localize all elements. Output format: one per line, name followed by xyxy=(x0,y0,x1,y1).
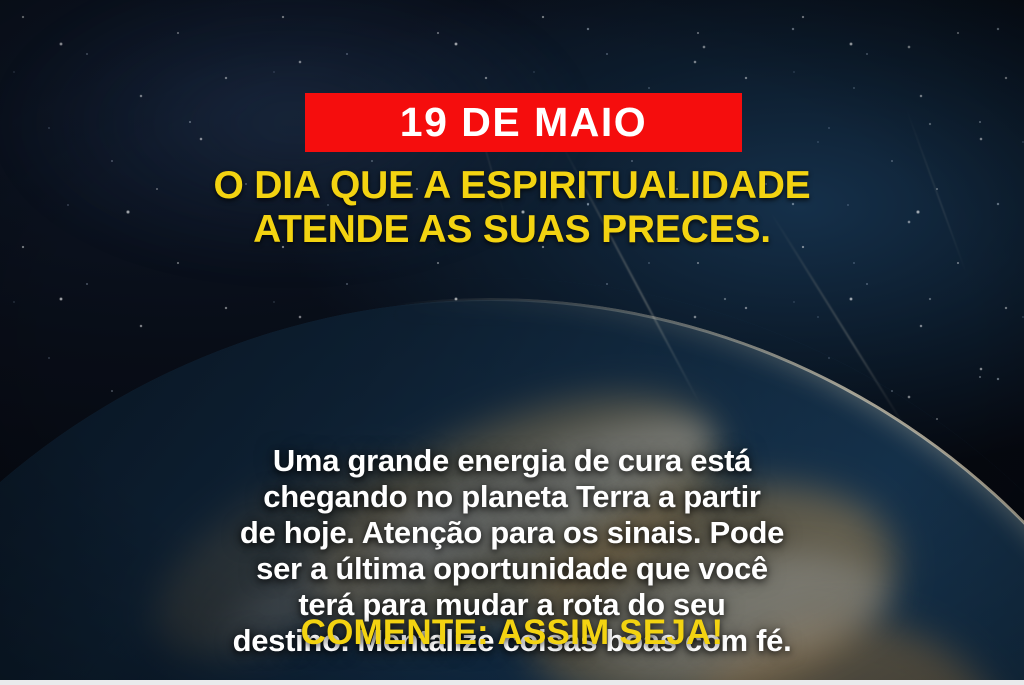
body-line-2: chegando no planeta Terra a partir xyxy=(0,479,1024,515)
body-line-1: Uma grande energia de cura está xyxy=(0,443,1024,479)
headline-line-1: O DIA QUE A ESPIRITUALIDADE xyxy=(0,164,1024,208)
headline: O DIA QUE A ESPIRITUALIDADE ATENDE AS SU… xyxy=(0,164,1024,251)
body-line-3: de hoje. Atenção para os sinais. Pode xyxy=(0,515,1024,551)
bottom-edge-strip xyxy=(0,680,1024,685)
social-media-poster: 19 DE MAIO O DIA QUE A ESPIRITUALIDADE A… xyxy=(0,0,1024,685)
body-line-4: ser a última oportunidade que você xyxy=(0,551,1024,587)
date-banner: 19 DE MAIO xyxy=(305,93,742,152)
call-to-action: COMENTE: ASSIM SEJA! xyxy=(0,615,1024,650)
headline-line-2: ATENDE AS SUAS PRECES. xyxy=(0,208,1024,252)
poster-content: 19 DE MAIO O DIA QUE A ESPIRITUALIDADE A… xyxy=(0,0,1024,685)
date-banner-label: 19 DE MAIO xyxy=(400,102,647,143)
